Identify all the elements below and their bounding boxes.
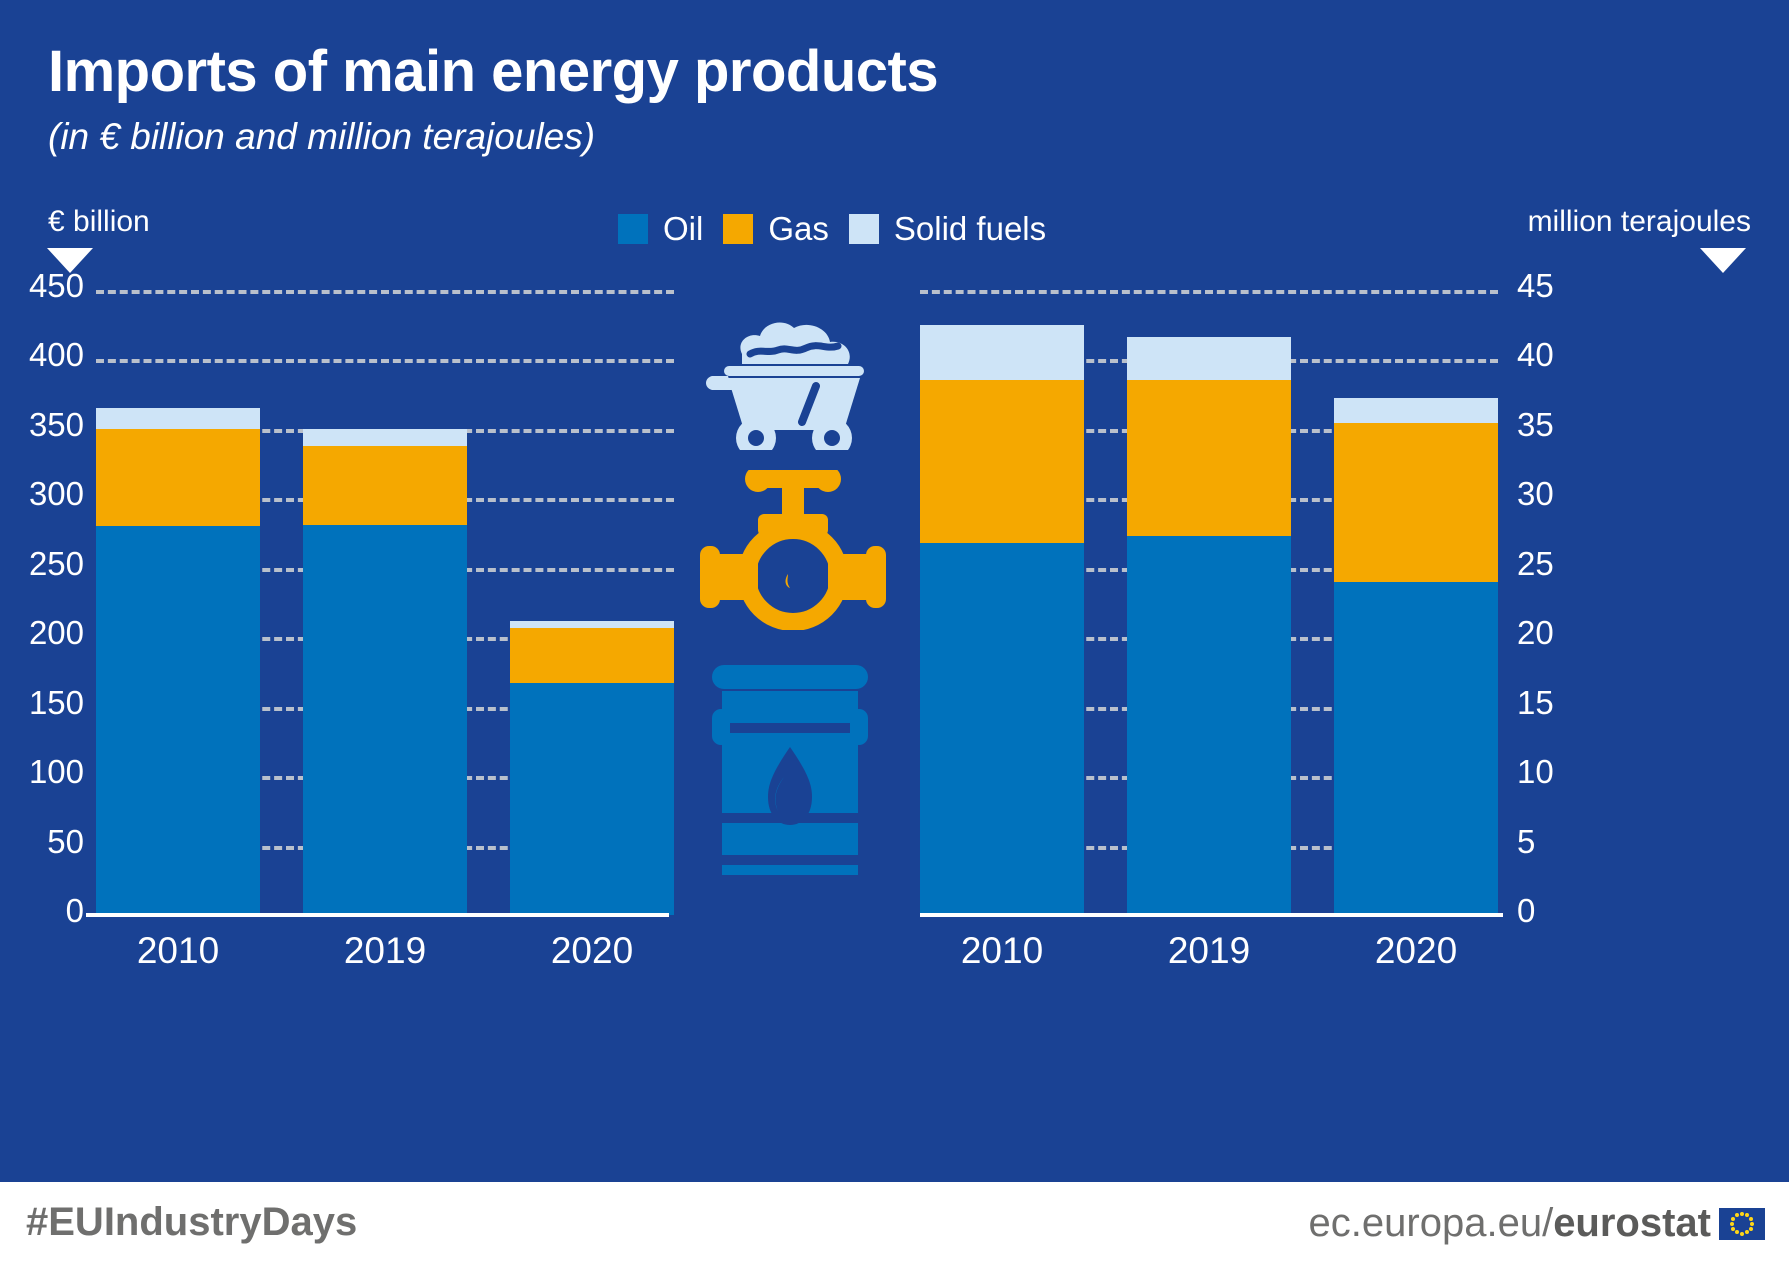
bar-segment-oil <box>1127 536 1291 915</box>
legend-item-gas[interactable]: Gas <box>723 210 829 248</box>
left-axis-caption: € billion <box>48 205 150 239</box>
bar-segment-oil <box>303 525 467 915</box>
right-axis-caption: million terajoules <box>1528 205 1751 239</box>
page-subtitle: (in € billion and million terajoules) <box>48 116 595 158</box>
page-title: Imports of main energy products <box>48 38 938 105</box>
bar-segment-gas <box>96 429 260 526</box>
bar-volume-chart-2010[interactable] <box>920 325 1084 915</box>
energy-icons-group <box>690 280 910 900</box>
axis-tick-label: 20 <box>1517 614 1554 652</box>
bar-segment-oil <box>920 543 1084 915</box>
infographic-root: Imports of main energy products (in € bi… <box>0 0 1789 1265</box>
left-category-labels: 201020192020 <box>96 930 674 990</box>
footer-bar: #EUIndustryDays ec.europa.eu/eurostat <box>0 1182 1789 1265</box>
bar-value-chart-2010[interactable] <box>96 408 260 915</box>
axis-tick-label: 25 <box>1517 545 1554 583</box>
bar-segment-solid-fuels <box>1127 337 1291 380</box>
bar-segment-gas <box>920 380 1084 543</box>
axis-tick-label: 30 <box>1517 475 1554 513</box>
coal-cart-icon <box>698 280 888 450</box>
category-label-2019: 2019 <box>303 930 467 990</box>
axis-tick-label: 100 <box>29 753 84 791</box>
bar-segment-solid-fuels <box>303 429 467 446</box>
bar-value-chart-2020[interactable] <box>510 621 674 915</box>
right-axis-pointer-icon <box>1700 248 1746 273</box>
axis-tick-label: 45 <box>1517 267 1554 305</box>
hashtag-label: #EUIndustryDays <box>26 1200 357 1245</box>
right-category-labels: 201020192020 <box>920 930 1498 990</box>
bar-segment-oil <box>96 526 260 915</box>
bar-segment-gas <box>303 446 467 525</box>
category-label-2020: 2020 <box>1334 930 1498 990</box>
bar-volume-chart-2020[interactable] <box>1334 398 1498 915</box>
axis-tick-label: 35 <box>1517 406 1554 444</box>
category-label-2010: 2010 <box>920 930 1084 990</box>
bar-volume-chart-2019[interactable] <box>1127 337 1291 915</box>
solid-fuels-swatch-icon <box>849 214 879 244</box>
axis-tick-label: 450 <box>29 267 84 305</box>
axis-tick-label: 350 <box>29 406 84 444</box>
oil-barrel-icon <box>712 665 868 875</box>
bar-segment-gas <box>1334 423 1498 581</box>
brand-url-prefix: ec.europa.eu/ <box>1309 1201 1554 1245</box>
legend-label-solid-fuels: Solid fuels <box>894 210 1046 248</box>
left-axis-baseline <box>86 913 669 917</box>
bar-segment-oil <box>1334 582 1498 915</box>
axis-tick-label: 250 <box>29 545 84 583</box>
bar-segment-gas <box>510 628 674 684</box>
category-label-2019: 2019 <box>1127 930 1291 990</box>
axis-tick-label: 300 <box>29 475 84 513</box>
gas-swatch-icon <box>723 214 753 244</box>
eu-flag-icon <box>1719 1208 1765 1240</box>
axis-tick-label: 200 <box>29 614 84 652</box>
right-bar-group <box>920 290 1498 915</box>
value-chart-plot <box>96 290 674 915</box>
legend-item-solid-fuels[interactable]: Solid fuels <box>849 210 1046 248</box>
axis-tick-label: 10 <box>1517 753 1554 791</box>
gas-valve-icon <box>700 470 886 630</box>
legend-label-oil: Oil <box>663 210 703 248</box>
left-bar-group <box>96 290 674 915</box>
axis-tick-label: 50 <box>47 823 84 861</box>
bar-segment-solid-fuels <box>920 325 1084 381</box>
bar-segment-oil <box>510 683 674 915</box>
bar-value-chart-2019[interactable] <box>303 429 467 915</box>
right-axis-baseline <box>920 913 1503 917</box>
brand-url-bold: eurostat <box>1553 1201 1711 1245</box>
bar-segment-gas <box>1127 380 1291 536</box>
brand-url: ec.europa.eu/eurostat <box>1309 1201 1711 1246</box>
volume-chart-plot <box>920 290 1498 915</box>
axis-tick-label: 0 <box>1517 892 1535 930</box>
bar-segment-solid-fuels <box>96 408 260 429</box>
bar-segment-solid-fuels <box>1334 398 1498 423</box>
legend-item-oil[interactable]: Oil <box>618 210 703 248</box>
axis-tick-label: 150 <box>29 684 84 722</box>
brand-block[interactable]: ec.europa.eu/eurostat <box>1309 1201 1765 1246</box>
axis-tick-label: 400 <box>29 336 84 374</box>
axis-tick-label: 40 <box>1517 336 1554 374</box>
legend-label-gas: Gas <box>768 210 829 248</box>
category-label-2020: 2020 <box>510 930 674 990</box>
category-label-2010: 2010 <box>96 930 260 990</box>
oil-swatch-icon <box>618 214 648 244</box>
axis-tick-label: 5 <box>1517 823 1535 861</box>
axis-tick-label: 0 <box>66 892 84 930</box>
axis-tick-label: 15 <box>1517 684 1554 722</box>
bar-segment-solid-fuels <box>510 621 674 628</box>
chart-legend: Oil Gas Solid fuels <box>618 210 1046 248</box>
